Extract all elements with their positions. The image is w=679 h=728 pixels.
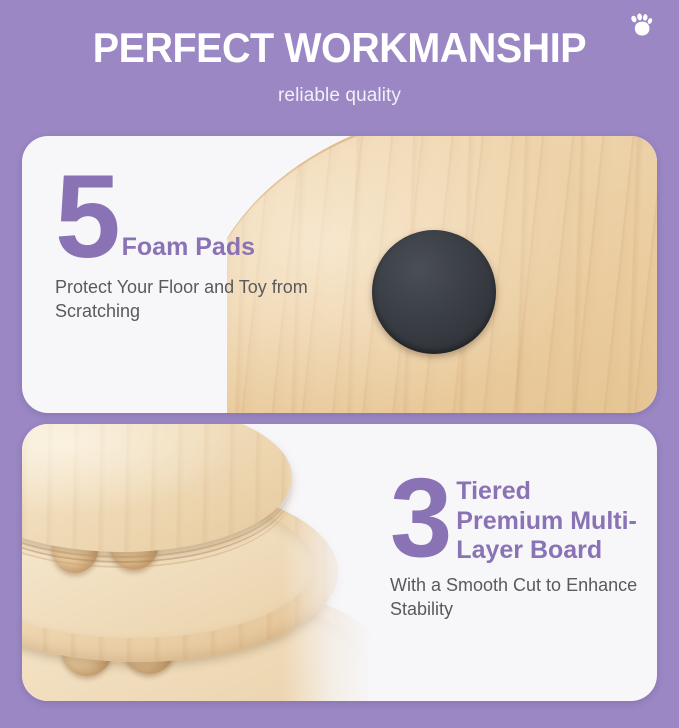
card-1-text-block: 5 Foam Pads Protect Your Floor and Toy f… xyxy=(55,170,355,324)
card-2-description: With a Smooth Cut to Enhance Stability xyxy=(390,574,640,622)
paw-print-icon xyxy=(625,12,655,42)
page-title: PERFECT WORKMANSHIP xyxy=(93,25,586,71)
card-1-heading: 5 Foam Pads xyxy=(55,170,355,264)
card-1-number-label: Foam Pads xyxy=(118,233,255,264)
card-2-heading: 3 Tiered Premium Multi-Layer Board xyxy=(390,474,640,566)
card-1-number: 5 xyxy=(55,170,118,264)
card-2-number-label: Tiered Premium Multi-Layer Board xyxy=(450,474,640,566)
stacked-wooden-tiers-art xyxy=(22,424,382,701)
feature-card-foam-pads: 5 Foam Pads Protect Your Floor and Toy f… xyxy=(22,136,657,413)
header-banner: PERFECT WORKMANSHIP reliable quality xyxy=(0,0,679,126)
feature-card-tiered-board: 3 Tiered Premium Multi-Layer Board With … xyxy=(22,424,657,701)
card-2-text-block: 3 Tiered Premium Multi-Layer Board With … xyxy=(390,474,640,622)
black-foam-pad xyxy=(372,230,496,354)
card-2-number: 3 xyxy=(390,470,450,566)
title-row: PERFECT WORKMANSHIP xyxy=(0,25,679,71)
card-1-description: Protect Your Floor and Toy from Scratchi… xyxy=(55,276,355,324)
page-subtitle: reliable quality xyxy=(0,85,679,107)
